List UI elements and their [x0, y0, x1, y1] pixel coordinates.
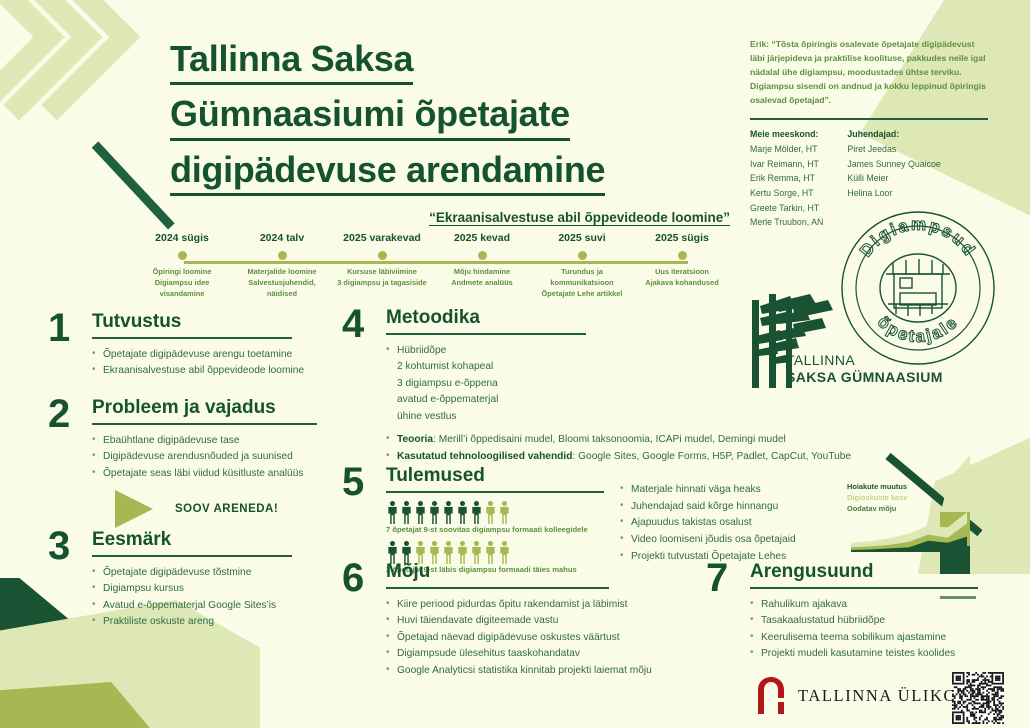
- timeline-dot-icon: [678, 251, 687, 260]
- person-icon: [498, 501, 511, 524]
- timeline-item: 2025 suviTurundus jakommunikatsioonÕpeta…: [532, 232, 632, 299]
- section-title: Arengusuund: [750, 562, 978, 582]
- title-line-3: digipädevuse arendamine: [170, 147, 605, 196]
- section-bullet-list: Õpetajate digipädevuse arengu toetamine …: [92, 347, 338, 380]
- timeline-dot-icon: [478, 251, 487, 260]
- poster-canvas: Tallinna Saksa Gümnaasiumi õpetajate dig…: [0, 0, 1030, 728]
- list-item: Video loomiseni jõudis osa õpetajaid: [620, 532, 835, 549]
- section-divider: [386, 491, 604, 493]
- supervisor-name: Külli Meier: [847, 171, 940, 186]
- hybrid-sub-line: avatud e-õppematerjal: [397, 392, 851, 409]
- timeline-period-label: 2025 sügis: [632, 232, 732, 244]
- legend-entry: Oodatav mõju: [847, 504, 907, 515]
- callout-label: SOOV ARENEDA!: [175, 503, 278, 515]
- legend-entry: Hoiakute muutus: [847, 482, 907, 493]
- person-icon: [442, 541, 455, 564]
- section-number: 3: [48, 530, 80, 631]
- person-icon: [470, 501, 483, 524]
- legend-entry: Digioskuste kasv: [847, 493, 907, 504]
- list-item: Digiampsude ülesehitus taaskohandatav: [386, 646, 702, 663]
- timeline-description: Turundus jakommunikatsioonÕpetajate Lehe…: [532, 266, 632, 299]
- section-metoodika: 4 Metoodika Hübriidõpe 2 kohtumist kohap…: [342, 308, 692, 465]
- section-divider: [92, 337, 292, 339]
- list-item: Digiampsu kursus: [92, 581, 338, 598]
- person-icon: [484, 541, 497, 564]
- list-item: Rahulikum ajakava: [750, 597, 978, 614]
- timeline-period-label: 2025 suvi: [532, 232, 632, 244]
- section-number: 7: [706, 562, 738, 663]
- person-icon: [428, 501, 441, 524]
- list-item: Juhendajad said kõrge hinnangu: [620, 499, 835, 516]
- person-icon: [456, 501, 469, 524]
- university-logo: TALLINNA ÜLIKOOL: [756, 676, 982, 716]
- section-number: 6: [342, 562, 374, 679]
- timeline-period-label: 2024 sügis: [132, 232, 232, 244]
- list-item: Ajapuudus takistas osalust: [620, 515, 835, 532]
- top-left-slash-decor: [92, 141, 175, 229]
- section-number: 1: [48, 312, 80, 380]
- title-subtitle: “Ekraanisalvestuse abil õppevideode loom…: [429, 210, 730, 226]
- list-item: Huvi täiendavate digiteemade vastu: [386, 613, 702, 630]
- title-line-2: Gümnaasiumi õpetajate: [170, 91, 570, 140]
- team-heading: Meie meeskond:: [750, 127, 823, 142]
- list-item: Digipädevuse arendusnõuded ja suunised: [92, 449, 338, 466]
- timeline-dot-icon: [378, 251, 387, 260]
- timeline-description: Uus iteratsioonAjakava kohandused: [632, 266, 732, 288]
- section-divider: [386, 333, 586, 335]
- person-icon: [414, 501, 427, 524]
- section-title: Tutvustus: [92, 312, 338, 332]
- school-name-line-2: SAKSA GÜMNAASIUM: [786, 369, 943, 386]
- team-member: Kertu Sorge, HT: [750, 186, 823, 201]
- impact-area-chart: Hoiakute muutus Digioskuste kasv Oodatav…: [845, 480, 970, 558]
- timeline-description: Õpiringi loomineDigiampsu ideevisandamin…: [132, 266, 232, 299]
- list-item: Õpetajad näevad digipädevuse oskustes vä…: [386, 630, 702, 647]
- project-goal-quote: Erik: “Tõsta õpiringis osalevate õpetaja…: [750, 38, 988, 108]
- page-title: Tallinna Saksa Gümnaasiumi õpetajate dig…: [170, 36, 730, 226]
- section-title: Probleem ja vajadus: [92, 398, 338, 418]
- section-divider: [386, 587, 609, 589]
- timeline-item: 2025 kevadMõju hindamineAndmete analüüs: [432, 232, 532, 299]
- list-item-tools: Kasutatud tehnoloogilised vahendid: Goog…: [386, 449, 851, 466]
- section-title: Mõju: [386, 562, 702, 582]
- list-item: Praktiliste oskuste areng: [92, 614, 338, 631]
- person-icon: [484, 501, 497, 524]
- digiampsud-opetajale-stamp: Digiampsud õpetajale: [838, 208, 998, 368]
- list-item: Õpetajate digipädevuse tõstmine: [92, 565, 338, 582]
- timeline-item: 2024 sügisÕpiringi loomineDigiampsu idee…: [132, 232, 232, 299]
- list-item: Ekraanisalvestuse abil õppevideode loomi…: [92, 363, 338, 380]
- team-column-members: Meie meeskond: Marje Mölder, HT Ivar Rei…: [750, 127, 823, 230]
- team-member: Marje Mölder, HT: [750, 142, 823, 157]
- theory-value: : Merill’i õppedisaini mudel, Bloomi tak…: [433, 434, 786, 445]
- list-item: Kiire periood pidurdas õpitu rakendamist…: [386, 597, 702, 614]
- supervisor-name: Piret Jeedas: [847, 142, 940, 157]
- section-number: 2: [48, 398, 80, 482]
- timeline-period-label: 2024 talv: [232, 232, 332, 244]
- pictogram-caption: 7 õpetajat 9-st soovitas digiampsu forma…: [386, 525, 612, 534]
- section-number: 4: [342, 308, 374, 465]
- tools-value: : Google Sites, Google Forms, H5P, Padle…: [572, 451, 851, 462]
- timeline-description: Mõju hindamineAndmete analüüs: [432, 266, 532, 288]
- list-item: Tasakaalustatud hübriidõpe: [750, 613, 978, 630]
- section-bullet-list: Õpetajate digipädevuse tõstmine Digiamps…: [92, 565, 338, 631]
- pictogram-row: [386, 501, 612, 524]
- play-arrow-icon: [115, 490, 153, 528]
- list-item: Õpetajate seas läbi viidud küsitluste an…: [92, 466, 338, 483]
- timeline-dot-icon: [578, 251, 587, 260]
- timeline-dot-icon: [278, 251, 287, 260]
- section-moju: 6 Mõju Kiire periood pidurdas õpitu rake…: [342, 562, 702, 679]
- hybrid-heading: Hübriidõpe: [397, 345, 446, 356]
- quote-and-team-block: Erik: “Tõsta õpiringis osalevate õpetaja…: [750, 38, 988, 230]
- quote-divider: [750, 118, 988, 120]
- person-icon: [400, 501, 413, 524]
- section-divider: [92, 423, 317, 425]
- section-divider: [92, 555, 292, 557]
- list-item: Õpetajate digipädevuse arengu toetamine: [92, 347, 338, 364]
- section-tutvustus: 1 Tutvustus Õpetajate digipädevuse areng…: [48, 312, 338, 380]
- section-arengusuund: 7 Arengusuund Rahulikum ajakava Tasakaal…: [706, 562, 956, 663]
- list-item: Google Analyticsi statistika kinnitab pr…: [386, 663, 702, 680]
- timeline-dot-icon: [178, 251, 187, 260]
- section-title: Tulemused: [386, 466, 612, 486]
- section-divider: [750, 587, 978, 589]
- list-item: Ebaühtlane digipädevuse tase: [92, 433, 338, 450]
- person-icon: [442, 501, 455, 524]
- timeline-period-label: 2025 varakevad: [332, 232, 432, 244]
- team-member: Ivar Reimann, HT: [750, 157, 823, 172]
- qr-code-icon: [952, 672, 1004, 724]
- person-icon: [498, 541, 511, 564]
- timeline-item: 2024 talvMaterjalide loomineSalvestusjuh…: [232, 232, 332, 299]
- timeline-item: 2025 varakevadKursuse läbiviimine3 digia…: [332, 232, 432, 299]
- list-item: Projekti mudeli kasutamine teistes kooli…: [750, 646, 978, 663]
- person-icon: [456, 541, 469, 564]
- list-item: Avatud e-õppematerjal Google Sites’is: [92, 598, 338, 615]
- timeline-description: Materjalide loomineSalvestusjuhendid,näi…: [232, 266, 332, 299]
- team-member: Greete Tarkin, HT: [750, 201, 823, 216]
- section-bullet-list: Kiire periood pidurdas õpitu rakendamist…: [386, 597, 702, 680]
- title-line-1: Tallinna Saksa: [170, 36, 413, 85]
- section-probleem-ja-vajadus: 2 Probleem ja vajadus Ebaühtlane digipäd…: [48, 398, 338, 482]
- supervisors-heading: Juhendajad:: [847, 127, 940, 142]
- tlu-arch-icon: [756, 676, 786, 716]
- timeline-item: 2025 sügisUus iteratsioonAjakava kohandu…: [632, 232, 732, 299]
- person-icon: [386, 501, 399, 524]
- section-bullet-list: Rahulikum ajakava Tasakaalustatud hübrii…: [750, 597, 978, 663]
- team-member: Erik Remma, HT: [750, 171, 823, 186]
- list-item: Keerulisema teema sobilikum ajastamine: [750, 630, 978, 647]
- timeline-description: Kursuse läbiviimine3 digiampsu ja tagasi…: [332, 266, 432, 288]
- list-item: Materjale hinnati väga heaks: [620, 482, 835, 499]
- results-bullet-list: Materjale hinnati väga heaks Juhendajad …: [620, 482, 835, 566]
- project-timeline: 2024 sügisÕpiringi loomineDigiampsu idee…: [132, 232, 732, 302]
- supervisor-name: James Sunney Quaicoe: [847, 157, 940, 172]
- section-eesmark: 3 Eesmärk Õpetajate digipädevuse tõstmin…: [48, 530, 338, 631]
- chart-legend: Hoiakute muutus Digioskuste kasv Oodatav…: [847, 482, 907, 515]
- section-title: Eesmärk: [92, 530, 338, 550]
- tools-label: Kasutatud tehnoloogilised vahendid: [397, 451, 572, 462]
- timeline-period-label: 2025 kevad: [432, 232, 532, 244]
- list-item-theory: Teooria: Merill’i õppedisaini mudel, Blo…: [386, 432, 851, 449]
- section-bullet-list: Ebaühtlane digipädevuse tase Digipädevus…: [92, 433, 338, 483]
- theory-label: Teooria: [397, 434, 433, 445]
- callout-soov-areneda: SOOV ARENEDA!: [115, 490, 278, 528]
- supervisor-name: Helina Loor: [847, 186, 940, 201]
- hybrid-sub-line: ühine vestlus: [397, 409, 851, 426]
- person-icon: [470, 541, 483, 564]
- team-member: Merle Truubon, AN: [750, 215, 823, 230]
